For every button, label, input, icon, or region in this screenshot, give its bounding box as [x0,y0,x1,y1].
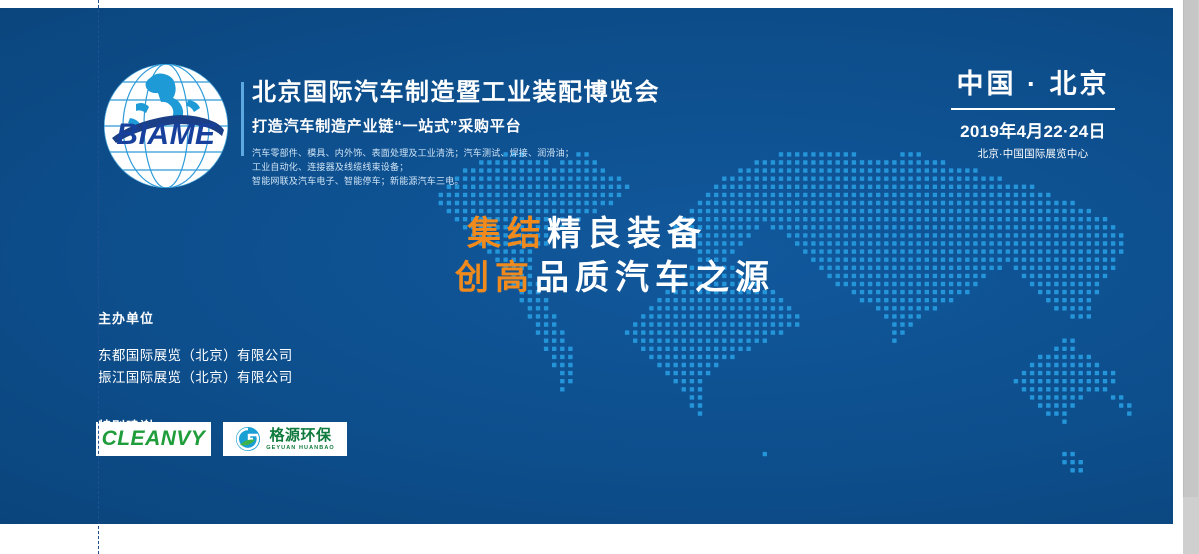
slogan-line-1-rest: 精良装备 [547,215,707,253]
slogan-line-2-rest: 品质汽车之源 [535,259,775,297]
slogan-line-2: 创高品质汽车之源 [455,257,895,301]
header-scope-list: 汽车零部件、模具、内外饰、表面处理及工业清洗；汽车测试、焊接、润滑油； 工业自动… [252,147,892,189]
slogan-line-1: 集结精良装备 [455,213,895,257]
page-title: 北京国际汽车制造暨工业装配博览会 [252,80,892,106]
svg-text:BIAME: BIAME [116,118,216,151]
organizer-heading: 主办单位 [98,308,293,327]
scope-line-2: 工业自动化、连接器及线缆线束设备； [252,161,892,175]
header-subtitle: 打造汽车制造产业链“一站式”采购平台 [252,115,892,136]
header-divider [241,82,244,156]
slogan-line-1-highlight: 集结 [467,215,547,253]
slogan-block: 集结精良装备 创高品质汽车之源 [455,213,895,300]
event-date: 2019年4月22·24日 [949,117,1117,142]
organizer-item: 东都国际展览（北京）有限公司 [98,345,293,367]
organizer-block: 主办单位 东都国际展览（北京）有限公司 振江国际展览（北京）有限公司 特别鸣谢 [98,308,293,435]
layout-guide-line [98,0,99,554]
sponsor-logo-row: CLEANVY 格源环保 GEYUAN HUANBAO [96,422,347,456]
poster-canvas: BIAME 北京国际汽车制造暨工业装配博览会 打造汽车制造产业链“一站式”采购平… [0,8,1173,524]
leaf-circle-icon [235,426,261,452]
date-block: 中国 · 北京 2019年4月22·24日 北京·中国国际展览中心 [949,70,1117,161]
scope-line-1: 汽车零部件、模具、内外饰、表面处理及工业清洗；汽车测试、焊接、润滑油； [252,147,892,161]
event-venue: 北京·中国国际展览中心 [949,146,1117,161]
sponsor-logo-geyuan: 格源环保 GEYUAN HUANBAO [223,422,347,456]
date-divider [951,108,1115,110]
scrollbar-track[interactable] [1183,0,1199,554]
sponsor-geyuan-en: GEYUAN HUANBAO [266,445,335,451]
header-text-block: 北京国际汽车制造暨工业装配博览会 打造汽车制造产业链“一站式”采购平台 汽车零部… [252,80,892,189]
sponsor-geyuan-cn: 格源环保 [269,428,331,443]
scope-line-3: 智能网联及汽车电子、智能停车；新能源汽车三电。 [252,175,892,189]
location-label: 中国 · 北京 [949,70,1117,100]
sponsor-logo-cleanvy: CLEANVY [96,422,211,456]
poster-stage: BIAME 北京国际汽车制造暨工业装配博览会 打造汽车制造产业链“一站式”采购平… [0,0,1199,554]
scrollbar-thumb[interactable] [1183,0,1198,497]
organizer-list: 东都国际展览（北京）有限公司 振江国际展览（北京）有限公司 [98,345,293,390]
organizer-item: 振江国际展览（北京）有限公司 [98,367,293,389]
biame-logo: BIAME [100,60,232,192]
sponsor-cleanvy-wordmark: CLEANVY [102,427,206,451]
slogan-line-2-highlight: 创高 [455,259,535,297]
